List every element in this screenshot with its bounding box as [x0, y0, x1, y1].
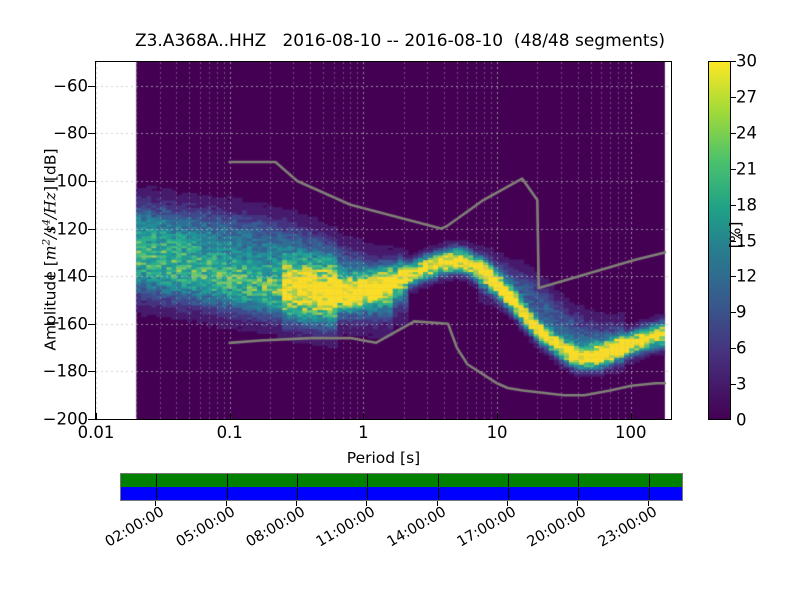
timeline-tick-mark: [507, 501, 508, 506]
y-tick-mark: [88, 229, 95, 230]
x-tick-label: 1: [358, 423, 369, 442]
colorbar-tick-mark: [731, 133, 736, 134]
timeline-time-label: 20:00:00: [516, 504, 590, 556]
colorbar-tick-mark: [731, 276, 736, 277]
timeline-tick: [578, 474, 579, 500]
y-axis-label-suffix: ] [dB]: [42, 149, 60, 193]
x-tick-mark: [96, 413, 97, 420]
ppsd-figure: Z3.A368A..HHZ 2016-08-10 -- 2016-08-10 (…: [0, 0, 800, 600]
y-axis-label-prefix: Amplitude [: [42, 260, 60, 350]
timeline-tick: [438, 474, 439, 500]
x-tick-label: 10: [487, 423, 508, 442]
colorbar-tick-label: 3: [736, 375, 747, 394]
colorbar-tick-mark: [731, 348, 736, 349]
x-tick-mark: [363, 413, 364, 420]
noise-model-overlay: [96, 62, 671, 419]
y-tick-mark: [88, 419, 95, 420]
colorbar-tick-mark: [731, 61, 736, 62]
y-tick-mark: [88, 371, 95, 372]
y-axis-label: Amplitude [m2/s4/Hz] [dB]: [40, 70, 59, 430]
y-tick-mark: [88, 324, 95, 325]
data-coverage-timeline[interactable]: [120, 473, 683, 501]
x-axis-ticks: 0.010.1110100: [0, 423, 800, 449]
colorbar-tick-mark: [731, 241, 736, 242]
colorbar-tick-label: 6: [736, 339, 747, 358]
x-axis-label: Period [s]: [95, 449, 672, 467]
ppsd-plot-area[interactable]: [95, 61, 672, 420]
timeline-time-label: 14:00:00: [375, 504, 449, 556]
timeline-tick-mark: [437, 501, 438, 506]
timeline-tick-mark: [366, 501, 367, 506]
timeline-time-label: 08:00:00: [234, 504, 308, 556]
timeline-time-label: 23:00:00: [586, 504, 660, 556]
timeline-time-label: 11:00:00: [304, 504, 378, 556]
y-tick-mark: [88, 276, 95, 277]
timeline-tick: [156, 474, 157, 500]
timeline-tick: [649, 474, 650, 500]
colorbar-tick-mark: [731, 384, 736, 385]
colorbar-tick-mark: [731, 205, 736, 206]
timeline-tick: [227, 474, 228, 500]
colorbar-tick-label: 9: [736, 303, 747, 322]
x-tick-label: 0.01: [78, 423, 115, 442]
colorbar-tick-mark: [731, 97, 736, 98]
y-axis-label-units: m2/s4/Hz: [42, 192, 60, 260]
colorbar-tick-mark: [731, 169, 736, 170]
x-tick-mark: [631, 413, 632, 420]
timeline-tick-labels: 02:00:0005:00:0008:00:0011:00:0014:00:00…: [0, 504, 800, 584]
coverage-band-blue: [121, 487, 682, 500]
x-tick-mark: [497, 413, 498, 420]
x-tick-label: 0.1: [217, 423, 243, 442]
colorbar-tick-label: 27: [736, 87, 757, 106]
colorbar-tick-label: 30: [736, 52, 757, 71]
page-title: Z3.A368A..HHZ 2016-08-10 -- 2016-08-10 (…: [0, 31, 800, 51]
x-tick-label: 100: [615, 423, 647, 442]
timeline-time-label: 17:00:00: [445, 504, 519, 556]
colorbar-tick-label: 18: [736, 195, 757, 214]
timeline-tick: [508, 474, 509, 500]
colorbar-tick-mark: [731, 312, 736, 313]
colorbar-tick-label: 12: [736, 267, 757, 286]
timeline-time-label: 02:00:00: [93, 504, 167, 556]
y-tick-mark: [88, 181, 95, 182]
coverage-band-green: [121, 474, 682, 487]
timeline-tick: [367, 474, 368, 500]
y-tick-mark: [88, 133, 95, 134]
timeline-tick-mark: [648, 501, 649, 506]
timeline-tick-mark: [155, 501, 156, 506]
timeline-time-label: 05:00:00: [164, 504, 238, 556]
timeline-tick-mark: [226, 501, 227, 506]
colorbar-tick-label: 24: [736, 123, 757, 142]
timeline-tick-mark: [577, 501, 578, 506]
timeline-tick: [297, 474, 298, 500]
colorbar-tick-label: 21: [736, 159, 757, 178]
colorbar-unit-label: [%]: [726, 222, 744, 249]
colorbar-tick-label: 0: [736, 411, 747, 430]
x-tick-mark: [230, 413, 231, 420]
timeline-tick-mark: [296, 501, 297, 506]
y-tick-mark: [88, 86, 95, 87]
